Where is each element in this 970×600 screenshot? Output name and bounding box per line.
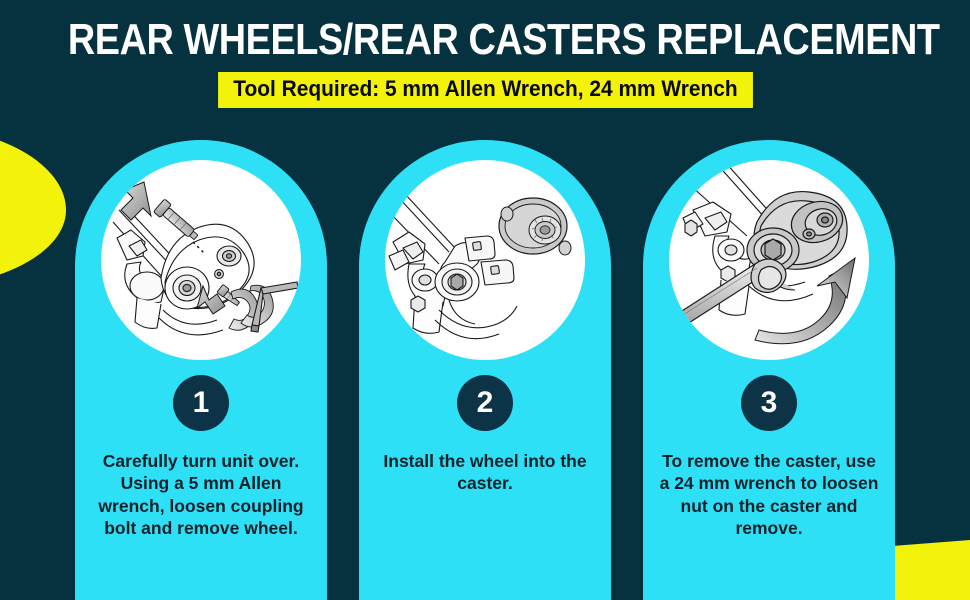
step-text-1: Carefully turn unit over. Using a 5 mm A… [83, 450, 319, 540]
tool-required-banner-wrap: Tool Required: 5 mm Allen Wrench, 24 mm … [0, 72, 970, 108]
step-text-3: To remove the caster, use a 24 mm wrench… [651, 450, 887, 540]
step-2-illustration [385, 160, 585, 360]
step-card-2: 2 Install the wheel into the caster. [359, 140, 611, 600]
step-3-illustration [669, 160, 869, 360]
step-badge-3: 3 [741, 375, 797, 431]
steps-row: 1 Carefully turn unit over. Using a 5 mm… [75, 140, 895, 600]
tool-required-banner: Tool Required: 5 mm Allen Wrench, 24 mm … [218, 72, 753, 108]
step-badge-1: 1 [173, 375, 229, 431]
yellow-blob-decoration [0, 126, 66, 288]
step-1-illustration [101, 160, 301, 360]
step-text-2: Install the wheel into the caster. [367, 450, 603, 495]
step-badge-2: 2 [457, 375, 513, 431]
step-card-1: 1 Carefully turn unit over. Using a 5 mm… [75, 140, 327, 600]
page-title: REAR WHEELS/REAR CASTERS REPLACEMENT [68, 18, 902, 63]
step-card-3: 3 To remove the caster, use a 24 mm wren… [643, 140, 895, 600]
header: REAR WHEELS/REAR CASTERS REPLACEMENT Too… [0, 0, 970, 108]
